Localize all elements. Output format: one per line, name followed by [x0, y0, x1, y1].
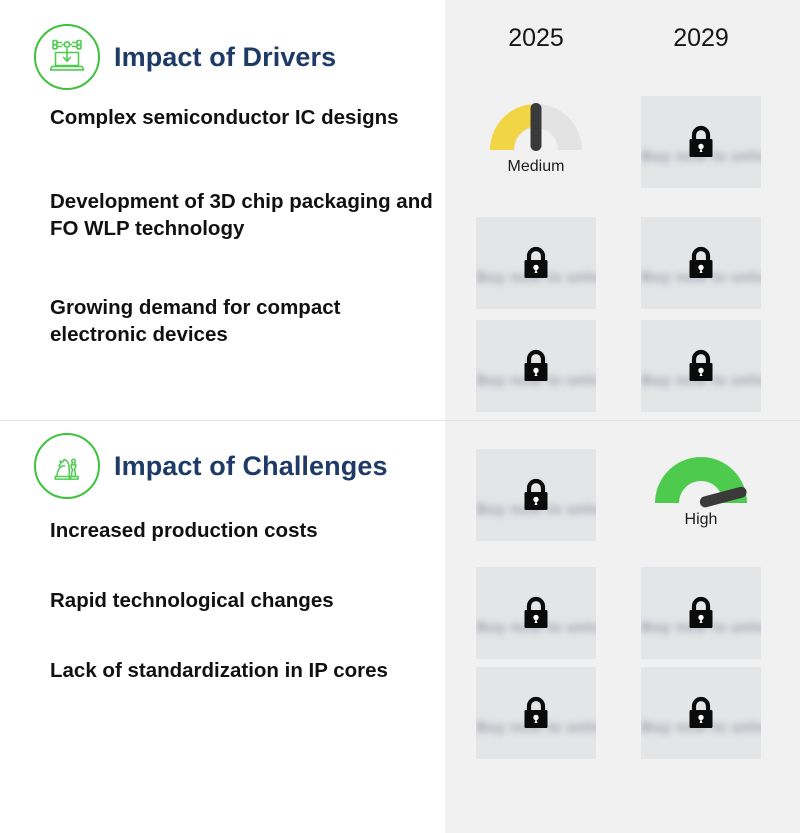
locked-tile[interactable]: Buy now to unlock	[476, 320, 596, 412]
cell-drivers-r3-2025[interactable]: Buy now to unlock	[476, 320, 596, 416]
locked-tile[interactable]: Buy now to unlock	[641, 217, 761, 309]
left-labels-column: Impact of Drivers Complex semiconductor …	[0, 0, 445, 833]
list-item: Lack of standardization in IP cores	[50, 657, 435, 684]
cell-challenges-r3-2025[interactable]: Buy now to unlock	[476, 667, 596, 763]
locked-tile[interactable]: Buy now to unlock	[641, 96, 761, 188]
locked-tile[interactable]: Buy now to unlock	[476, 217, 596, 309]
lock-icon	[519, 346, 553, 386]
cell-drivers-r3-2029[interactable]: Buy now to unlock	[641, 320, 761, 416]
column-header-2029: 2029	[641, 24, 761, 53]
list-item: Rapid technological changes	[50, 587, 435, 614]
lock-icon	[684, 243, 718, 283]
lock-icon	[519, 593, 553, 633]
cell-challenges-r1-2025[interactable]: Buy now to unlock	[476, 449, 596, 545]
cell-challenges-r3-2029[interactable]: Buy now to unlock	[641, 667, 761, 763]
list-item: Complex semiconductor IC designs	[50, 104, 435, 131]
laptop-download-chip-icon	[34, 24, 100, 90]
cell-drivers-r2-2029[interactable]: Buy now to unlock	[641, 217, 761, 313]
locked-tile[interactable]: Buy now to unlock	[641, 320, 761, 412]
lock-icon	[684, 593, 718, 633]
locked-tile[interactable]: Buy now to unlock	[476, 449, 596, 541]
column-header-2025: 2025	[476, 24, 596, 53]
locked-tile[interactable]: Buy now to unlock	[641, 667, 761, 759]
lock-icon	[684, 693, 718, 733]
section-title-drivers: Impact of Drivers	[114, 42, 336, 73]
locked-tile[interactable]: Buy now to unlock	[476, 567, 596, 659]
cell-challenges-r2-2029[interactable]: Buy now to unlock	[641, 567, 761, 663]
gauge-medium: Medium	[476, 96, 596, 192]
section-header-challenges: Impact of Challenges	[34, 433, 388, 499]
cell-drivers-r2-2025[interactable]: Buy now to unlock	[476, 217, 596, 313]
list-item: Increased production costs	[50, 517, 435, 544]
gauge-dial	[649, 451, 753, 509]
impact-matrix: 2025 2029	[0, 0, 800, 833]
lock-icon	[684, 346, 718, 386]
lock-icon	[519, 475, 553, 515]
locked-tile[interactable]: Buy now to unlock	[476, 667, 596, 759]
cell-drivers-r1-2025: Medium	[476, 96, 596, 192]
cell-drivers-r1-2029[interactable]: Buy now to unlock	[641, 96, 761, 192]
list-item: Development of 3D chip packaging and FO …	[50, 188, 435, 242]
lock-icon	[684, 122, 718, 162]
section-header-drivers: Impact of Drivers	[34, 24, 336, 90]
gauge-high: High	[641, 449, 761, 545]
list-item: Growing demand for compact electronic de…	[50, 294, 435, 348]
lock-icon	[519, 243, 553, 283]
lock-icon	[519, 693, 553, 733]
cell-challenges-r2-2025[interactable]: Buy now to unlock	[476, 567, 596, 663]
gauge-label: High	[641, 511, 761, 529]
gauge-dial	[484, 98, 588, 156]
gauge-label: Medium	[476, 158, 596, 176]
cell-challenges-r1-2029: High	[641, 449, 761, 545]
chess-pieces-icon	[34, 433, 100, 499]
locked-tile[interactable]: Buy now to unlock	[641, 567, 761, 659]
section-title-challenges: Impact of Challenges	[114, 451, 388, 482]
